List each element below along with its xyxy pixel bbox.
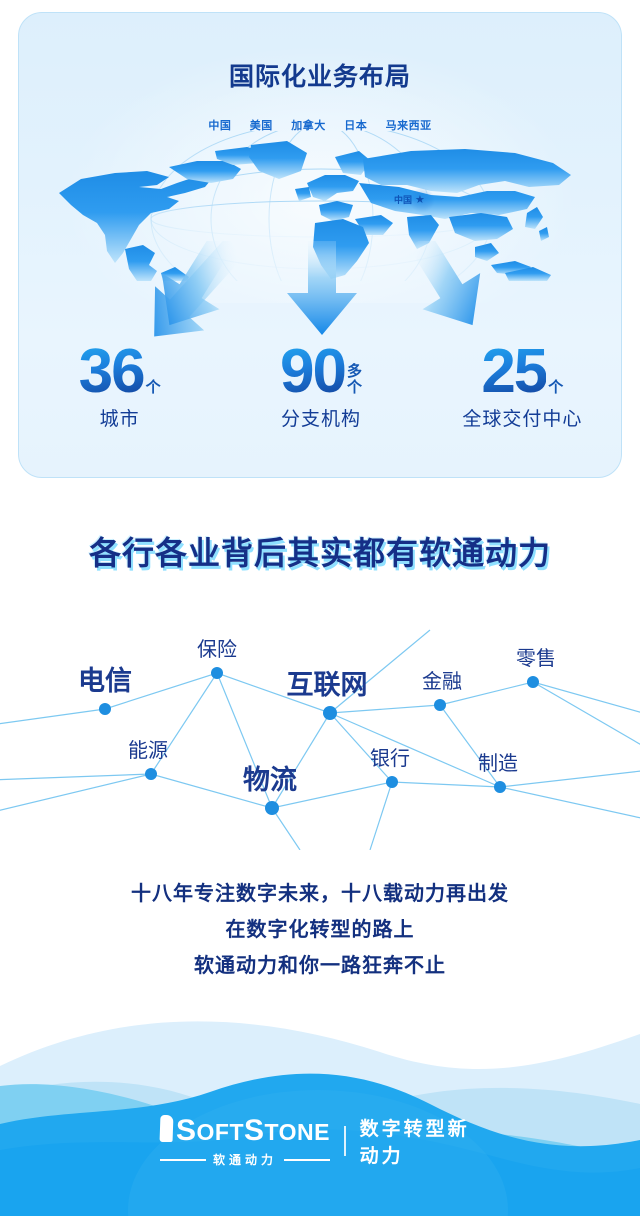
stat-suffix-2-0: 个 xyxy=(548,380,563,396)
logo-cn-name-row: 软通动力 xyxy=(160,1151,330,1168)
logo-divider xyxy=(344,1126,346,1156)
section-heading: 各行各业背后其实都有软通动力 xyxy=(0,528,640,574)
poster-page: 国际化业务布局 中国 美国 加拿大 日本 马来西亚 xyxy=(0,0,640,1216)
stat-label-2: 全球交付中心 xyxy=(422,404,622,431)
stats-row: 36 个 城市 90 多 个 分支机构 xyxy=(19,343,622,431)
stat-number-row-1: 90 多 个 xyxy=(220,343,421,402)
logo-i-mark-icon xyxy=(160,1115,174,1142)
logo-word-part-1: OFT xyxy=(197,1121,245,1144)
logo-word-part-3: TONE xyxy=(265,1121,330,1144)
international-business-card: 国际化业务布局 中国 美国 加拿大 日本 马来西亚 xyxy=(18,12,622,478)
stat-number-0: 36 xyxy=(79,343,144,402)
network-node-label-baoxian[interactable]: 保险 xyxy=(197,633,237,662)
logo-rule-right xyxy=(284,1159,330,1161)
network-node-label-lingshou[interactable]: 零售 xyxy=(516,642,556,671)
logo-word-part-0: S xyxy=(176,1116,197,1146)
logo-word-part-2: S xyxy=(244,1116,265,1146)
network-node-label-wuliu[interactable]: 物流 xyxy=(243,758,297,797)
china-map-marker: 中国 ★ xyxy=(394,193,425,206)
network-node-label-nengyuan[interactable]: 能源 xyxy=(128,734,168,763)
tagline-line-1: 在数字化转型的路上 xyxy=(0,912,640,948)
stat-number-row-0: 36 个 xyxy=(19,343,220,402)
tagline-line-2: 软通动力和你一路狂奔不止 xyxy=(0,948,640,984)
tagline-block: 十八年专注数字未来，十八载动力再出发 在数字化转型的路上 软通动力和你一路狂奔不… xyxy=(0,876,640,984)
industry-network-diagram: 电信 保险 互联网 金融 零售 能源 物流 银行 制造 xyxy=(0,620,640,850)
stat-suffix-1-0: 多 xyxy=(347,364,362,380)
stat-suffix-0-0: 个 xyxy=(146,380,161,396)
footer-wave-banner: S OFT S TONE 软通动力 数字转型新动力 xyxy=(0,1000,640,1216)
stat-suffix-2: 个 xyxy=(548,380,563,402)
network-node-label-zhizao[interactable]: 制造 xyxy=(478,747,518,776)
logo-rule-left xyxy=(160,1159,206,1161)
tagline-line-0: 十八年专注数字未来，十八载动力再出发 xyxy=(0,876,640,912)
stat-number-1: 90 xyxy=(280,343,345,402)
logo-main: S OFT S TONE 软通动力 xyxy=(160,1113,330,1168)
network-node-label-dianxin[interactable]: 电信 xyxy=(78,659,132,698)
logo-cn-name: 软通动力 xyxy=(213,1151,277,1168)
stat-suffix-0: 个 xyxy=(146,380,161,402)
network-node-label-jinrong[interactable]: 金融 xyxy=(422,665,462,694)
stat-item-0: 36 个 城市 xyxy=(19,343,220,431)
stat-label-1: 分支机构 xyxy=(220,404,421,431)
card-title: 国际化业务布局 xyxy=(19,57,621,93)
logo-tagline: 数字转型新动力 xyxy=(360,1114,480,1168)
stat-number-row-2: 25 个 xyxy=(422,343,622,402)
logo-wordmark: S OFT S TONE xyxy=(160,1113,330,1146)
network-node-label-hulianwang[interactable]: 互联网 xyxy=(287,663,368,702)
stat-number-2: 25 xyxy=(481,343,546,402)
stat-suffix-1: 多 个 xyxy=(347,364,362,402)
stat-suffix-1-1: 个 xyxy=(347,380,362,396)
star-icon: ★ xyxy=(415,193,425,206)
stat-item-2: 25 个 全球交付中心 xyxy=(422,343,622,431)
stat-item-1: 90 多 个 分支机构 xyxy=(220,343,421,431)
isoftstone-logo: S OFT S TONE 软通动力 数字转型新动力 xyxy=(160,1113,480,1168)
stat-label-0: 城市 xyxy=(19,404,220,431)
network-node-label-yinhang[interactable]: 银行 xyxy=(370,742,410,771)
arrow-group xyxy=(19,241,622,351)
